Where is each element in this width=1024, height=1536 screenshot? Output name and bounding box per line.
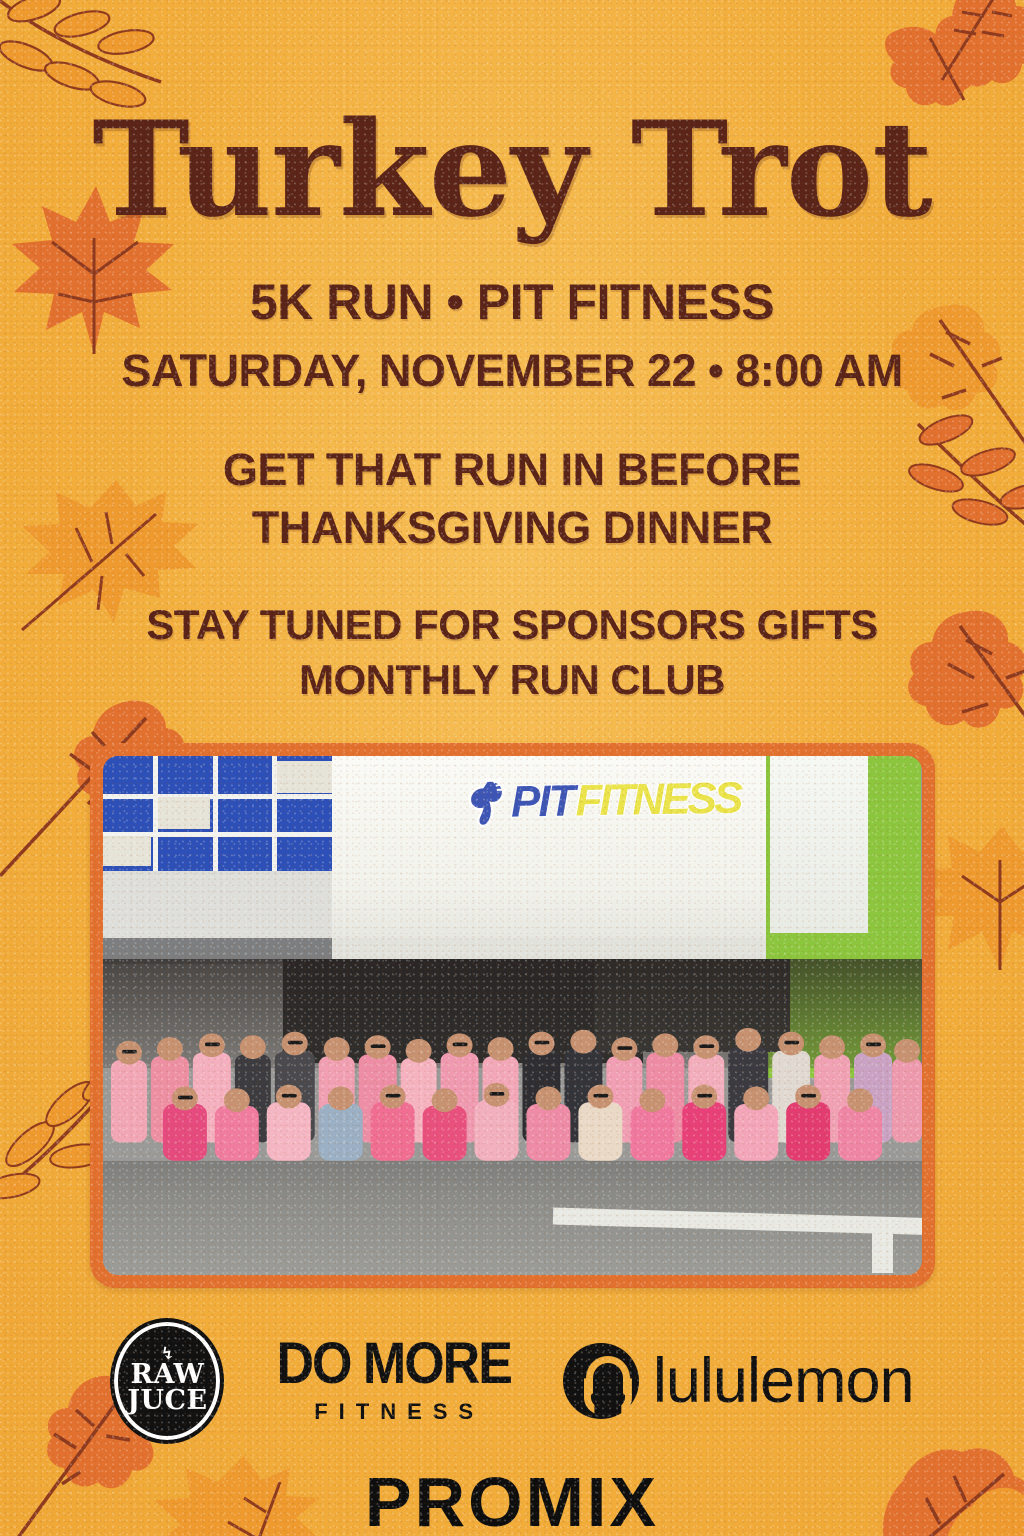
promix-wordmark: PROMIX	[365, 1463, 659, 1536]
event-photo: PIT FITNESS	[103, 756, 922, 1275]
page-title: Turkey Trot	[0, 0, 1024, 235]
lululemon-wordmark: lululemon	[653, 1345, 914, 1417]
sponsor-logo-lululemon[interactable]: lululemon	[563, 1343, 914, 1419]
photo-left-fascia	[103, 871, 332, 938]
do-more-line-1: DO MORE	[276, 1335, 510, 1393]
event-photo-frame: PIT FITNESS	[90, 743, 935, 1288]
sponsor-logos: ↯ RAW JUCE DO MORE FITNESS lululemon	[0, 1318, 1024, 1444]
headline-subtitle: 5K RUN • PIT FITNESS	[0, 273, 1024, 331]
sponsor-logo-promix[interactable]: PROMIX	[0, 1462, 1024, 1536]
note-line-2: MONTHLY RUN CLUB	[0, 653, 1024, 708]
pit-fitness-elephant-icon	[462, 776, 507, 829]
sign-text-pit: PIT	[510, 776, 573, 827]
photo-crowd	[103, 1016, 922, 1172]
pit-fitness-sign: PIT FITNESS	[462, 772, 740, 829]
event-date-time: SATURDAY, NOVEMBER 22 • 8:00 AM	[0, 345, 1024, 397]
photo-blue-window	[103, 756, 332, 870]
sign-text-fitness: FITNESS	[575, 773, 741, 826]
message-line-1: GET THAT RUN IN BEFORE	[0, 441, 1024, 499]
photo-parking-line-2	[872, 1226, 892, 1273]
sponsor-logo-do-more-fitness[interactable]: DO MORE FITNESS	[276, 1338, 510, 1425]
raw-juce-line-2: JUCE	[127, 1388, 207, 1414]
raw-juce-line-1: RAW	[131, 1362, 205, 1388]
poster-canvas: Turkey Trot 5K RUN • PIT FITNESS SATURDA…	[0, 0, 1024, 1536]
message-block: GET THAT RUN IN BEFORE THANKSGIVING DINN…	[0, 441, 1024, 556]
message-line-2: THANKSGIVING DINNER	[0, 499, 1024, 557]
lululemon-omega-icon	[563, 1343, 639, 1419]
poster-content: Turkey Trot 5K RUN • PIT FITNESS SATURDA…	[0, 0, 1024, 707]
note-line-1: STAY TUNED FOR SPONSORS GIFTS	[0, 598, 1024, 653]
note-block: STAY TUNED FOR SPONSORS GIFTS MONTHLY RU…	[0, 598, 1024, 707]
do-more-line-2: FITNESS	[303, 1399, 484, 1425]
sponsor-logo-raw-juce[interactable]: ↯ RAW JUCE	[110, 1318, 224, 1444]
photo-right-panel	[770, 756, 868, 932]
